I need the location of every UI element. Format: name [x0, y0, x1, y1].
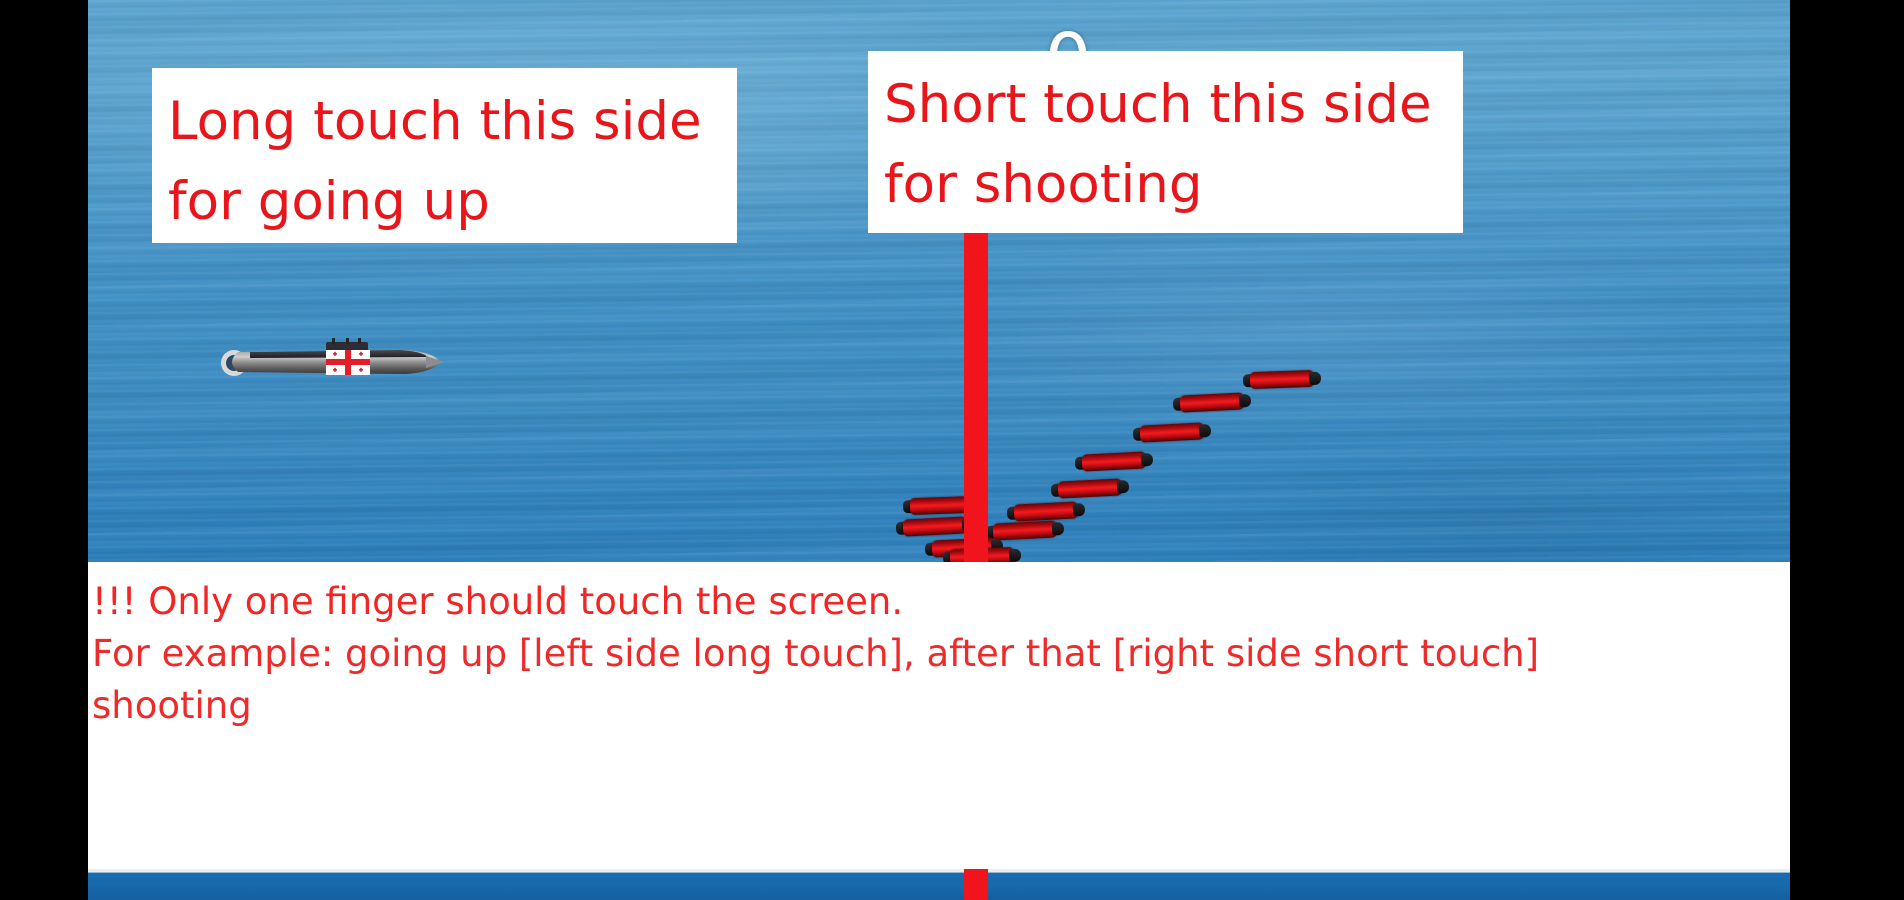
torpedo-nose: [1073, 503, 1086, 517]
torpedo-body: [1058, 478, 1123, 498]
instruction-line-1: !!! Only one finger should touch the scr…: [92, 576, 1790, 628]
navigation-bar: [1790, 0, 1904, 900]
left-instruction-callout: Long touch this side for going up: [152, 68, 737, 243]
torpedo-nose: [1239, 394, 1252, 408]
torpedo-nose: [1009, 549, 1021, 562]
instruction-line-3: shooting: [92, 680, 1790, 732]
torpedo-body: [1180, 392, 1245, 412]
torpedo-body: [1014, 501, 1079, 521]
torpedo-body: [1250, 370, 1315, 389]
torpedo-body: [903, 516, 968, 536]
torpedo-nose: [1117, 480, 1130, 494]
torpedo-nose: [1199, 424, 1212, 438]
bottom-blue-strip: [88, 868, 1790, 900]
torpedo-nose: [1052, 522, 1065, 536]
torpedo-nose: [1141, 453, 1154, 467]
torpedo: [1243, 370, 1322, 390]
submarine-sprite: [220, 338, 444, 386]
letterbox-left: [0, 0, 88, 900]
torpedo-nose: [1309, 372, 1321, 385]
player-submarine: [220, 338, 444, 386]
right-instruction-callout: Short touch this side for shooting: [868, 51, 1463, 233]
georgia-flag-icon: [326, 350, 370, 375]
device-screen: 0 Long touch this side for going up Shor…: [0, 0, 1904, 900]
torpedo-body: [1140, 422, 1205, 442]
torpedo-body: [1082, 451, 1147, 471]
bottom-instruction-panel: !!! Only one finger should touch the scr…: [88, 562, 1790, 869]
game-viewport[interactable]: 0 Long touch this side for going up Shor…: [88, 0, 1790, 900]
instruction-line-2: For example: going up [left side long to…: [92, 628, 1790, 680]
